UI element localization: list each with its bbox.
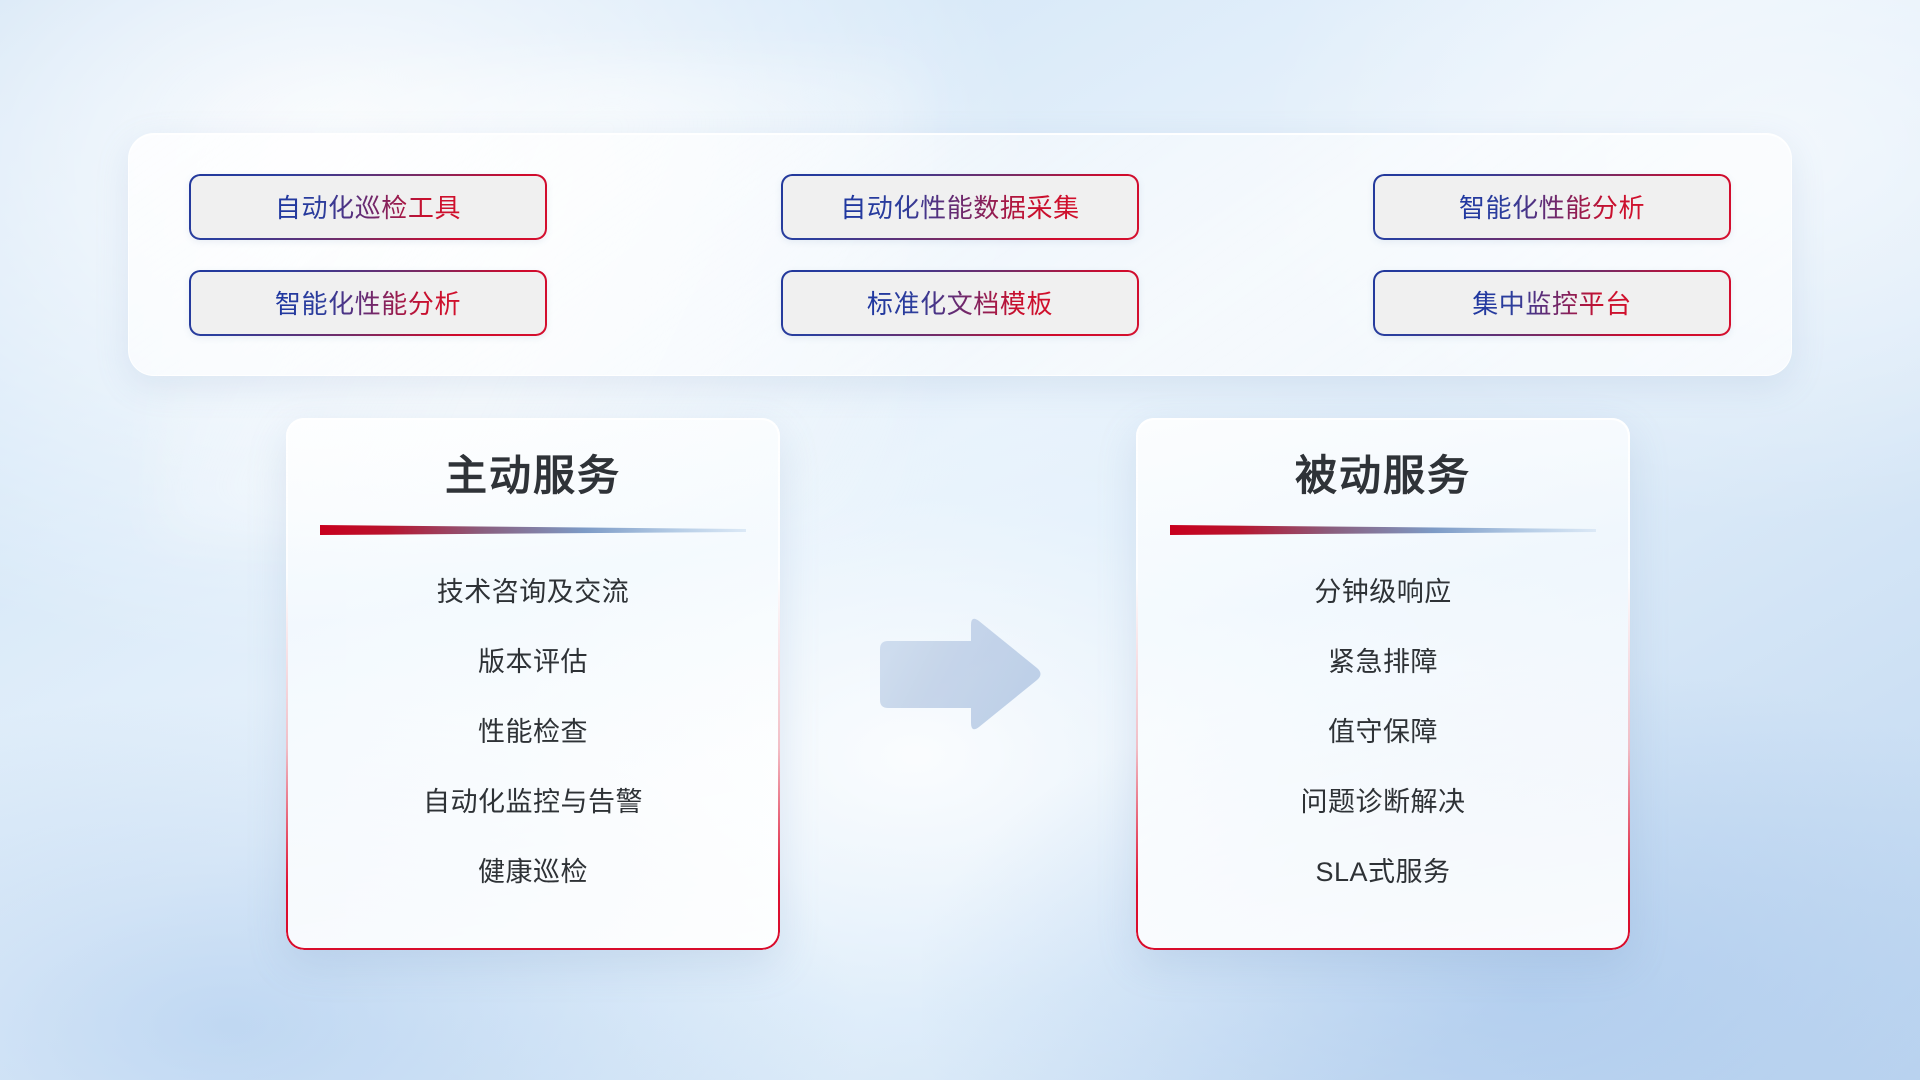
capability-tag-label: 智能化性能分析 — [275, 284, 461, 321]
capability-tag-automated-performance-data-collection[interactable]: 自动化性能数据采集 — [781, 174, 1139, 240]
capability-tag-label: 标准化文档模板 — [867, 284, 1053, 321]
title-divider — [320, 524, 746, 536]
title-divider — [1170, 524, 1596, 536]
diagram-stage: 自动化巡检工具 自动化性能数据采集 智能化性能分析 智能化性能分析 标准化文档模… — [0, 0, 1920, 1080]
capability-tag-standardized-document-template[interactable]: 标准化文档模板 — [781, 270, 1139, 336]
capability-tags-panel: 自动化巡检工具 自动化性能数据采集 智能化性能分析 智能化性能分析 标准化文档模… — [128, 133, 1792, 376]
service-card-reactive[interactable]: 被动服务 分钟级响应 紧急排障 值守保障 — [1136, 418, 1630, 950]
service-item: 版本评估 — [478, 640, 588, 679]
capability-tags-row-2: 智能化性能分析 标准化文档模板 集中监控平台 — [189, 270, 1731, 336]
service-item: 分钟级响应 — [1314, 570, 1452, 609]
capability-tags-row-1: 自动化巡检工具 自动化性能数据采集 智能化性能分析 — [189, 174, 1731, 240]
service-card-item-list: 技术咨询及交流 版本评估 性能检查 自动化监控与告警 健康巡检 — [316, 564, 750, 920]
capability-tag-label: 自动化巡检工具 — [275, 188, 461, 225]
capability-tag-automation-inspection-tool[interactable]: 自动化巡检工具 — [189, 174, 547, 240]
capability-tag-label: 集中监控平台 — [1472, 284, 1632, 321]
service-card-content: 被动服务 分钟级响应 紧急排障 值守保障 — [1136, 418, 1630, 950]
service-item: 性能检查 — [478, 710, 588, 749]
service-item: 值守保障 — [1328, 710, 1438, 749]
arrow-right-icon — [874, 613, 1044, 736]
service-item: 健康巡检 — [478, 850, 588, 889]
service-card-proactive[interactable]: 主动服务 技术咨询及交流 版本评估 性能检查 — [286, 418, 780, 950]
service-card-content: 主动服务 技术咨询及交流 版本评估 性能检查 — [286, 418, 780, 950]
capability-tag-label: 自动化性能数据采集 — [840, 188, 1079, 225]
service-card-title: 被动服务 — [1295, 452, 1471, 500]
service-item: 自动化监控与告警 — [423, 780, 643, 819]
capability-tag-centralized-monitoring-platform[interactable]: 集中监控平台 — [1373, 270, 1731, 336]
capability-tag-label: 智能化性能分析 — [1459, 188, 1645, 225]
service-item: SLA式服务 — [1315, 850, 1450, 889]
service-item: 问题诊断解决 — [1301, 780, 1466, 819]
service-item: 技术咨询及交流 — [437, 570, 630, 609]
service-card-title: 主动服务 — [445, 452, 621, 500]
service-card-item-list: 分钟级响应 紧急排障 值守保障 问题诊断解决 SLA式服务 — [1166, 564, 1600, 920]
service-item: 紧急排障 — [1328, 640, 1438, 679]
capability-tag-intelligent-performance-analysis-2[interactable]: 智能化性能分析 — [189, 270, 547, 336]
capability-tag-intelligent-performance-analysis[interactable]: 智能化性能分析 — [1373, 174, 1731, 240]
